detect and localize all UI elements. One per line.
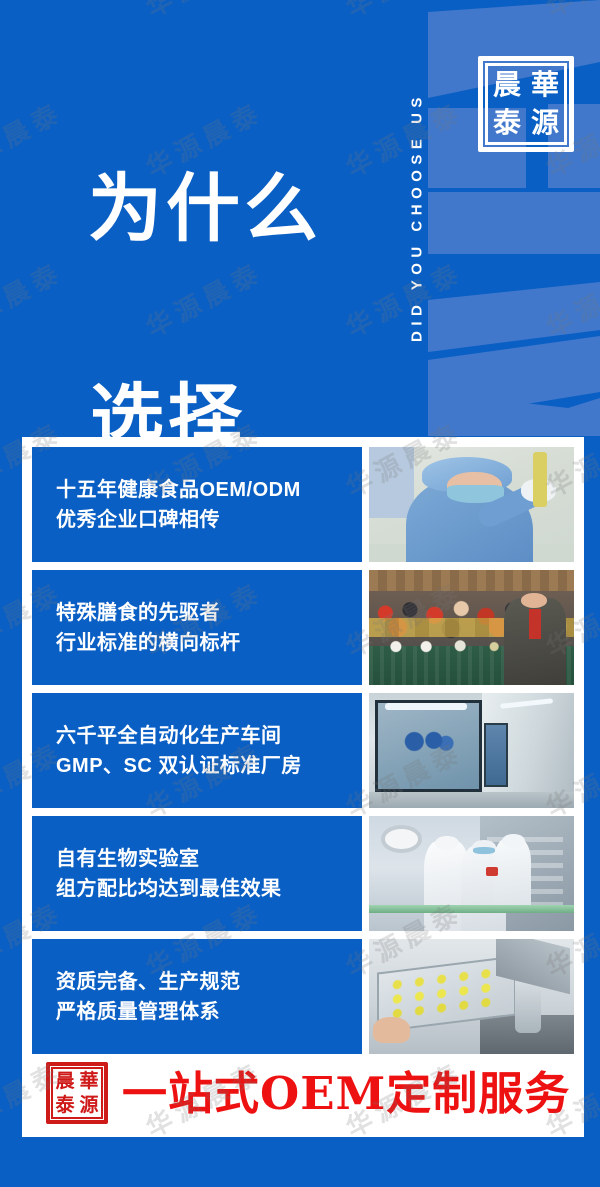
poster-root: 为什么 选择 我们? DID YOU CHOOSE US 晨 華 泰 源 十五年… (0, 0, 600, 1187)
bottom-banner: 晨 華 泰 源 一站式OEM定制服务 (22, 1057, 584, 1129)
seal-char-chen: 晨 (488, 66, 526, 104)
features-list: 十五年健康食品OEM/ODM 优秀企业口碑相传 特殊膳食的先驱者 行业标准的 (32, 447, 574, 1054)
feature-line-2: 组方配比均达到最佳效果 (56, 874, 362, 904)
feature-line-2: GMP、SC 双认证标准厂房 (56, 751, 362, 781)
feature-text-block: 特殊膳食的先驱者 行业标准的横向标杆 (32, 570, 362, 685)
feature-text-block: 六千平全自动化生产车间 GMP、SC 双认证标准厂房 (32, 693, 362, 808)
seal-char-hua: 華 (526, 66, 564, 104)
seal-red-char-tai: 泰 (53, 1093, 77, 1117)
feature-line-1: 资质完备、生产规范 (56, 967, 362, 997)
seal-red-char-chen: 晨 (53, 1069, 77, 1093)
lab-technician-syringe-photo (369, 447, 574, 562)
hero-section: 为什么 选择 我们? DID YOU CHOOSE US 晨 華 泰 源 (0, 0, 600, 437)
vertical-english-caption: DID YOU CHOOSE US (404, 18, 430, 416)
brand-seal-icon: 晨 華 泰 源 (478, 56, 574, 152)
brand-seal-red-icon: 晨 華 泰 源 (46, 1062, 108, 1124)
tablet-press-yellow-pills-photo (369, 939, 574, 1054)
feature-text-block: 自有生物实验室 组方配比均达到最佳效果 (32, 816, 362, 931)
seal-red-char-yuan: 源 (77, 1093, 101, 1117)
feature-line-1: 特殊膳食的先驱者 (56, 598, 362, 628)
feature-line-1: 六千平全自动化生产车间 (56, 721, 362, 751)
feature-line-2: 行业标准的横向标杆 (56, 628, 362, 658)
seal-char-tai: 泰 (488, 104, 526, 142)
feature-line-1: 自有生物实验室 (56, 844, 362, 874)
seal-inner-grid: 晨 華 泰 源 (485, 63, 567, 145)
list-item[interactable]: 自有生物实验室 组方配比均达到最佳效果 (32, 816, 574, 931)
seal-red-inner-grid: 晨 華 泰 源 (51, 1067, 103, 1119)
conference-audience-photo (369, 570, 574, 685)
feature-line-2: 严格质量管理体系 (56, 997, 362, 1027)
cleanroom-corridor-photo (369, 693, 574, 808)
banner-slogan: 一站式OEM定制服务 (122, 1071, 570, 1116)
title-line-1: 为什么 (88, 157, 388, 262)
seal-red-char-hua: 華 (77, 1069, 101, 1093)
seal-char-yuan: 源 (526, 104, 564, 142)
list-item[interactable]: 特殊膳食的先驱者 行业标准的横向标杆 (32, 570, 574, 685)
feature-text-block: 十五年健康食品OEM/ODM 优秀企业口碑相传 (32, 447, 362, 562)
list-item[interactable]: 资质完备、生产规范 严格质量管理体系 (32, 939, 574, 1054)
feature-text-block: 资质完备、生产规范 严格质量管理体系 (32, 939, 362, 1054)
production-line-workers-photo (369, 816, 574, 931)
list-item[interactable]: 十五年健康食品OEM/ODM 优秀企业口碑相传 (32, 447, 574, 562)
feature-line-2: 优秀企业口碑相传 (56, 505, 362, 535)
features-card: 十五年健康食品OEM/ODM 优秀企业口碑相传 特殊膳食的先驱者 行业标准的 (22, 437, 584, 1137)
feature-line-1: 十五年健康食品OEM/ODM (56, 475, 362, 505)
list-item[interactable]: 六千平全自动化生产车间 GMP、SC 双认证标准厂房 (32, 693, 574, 808)
